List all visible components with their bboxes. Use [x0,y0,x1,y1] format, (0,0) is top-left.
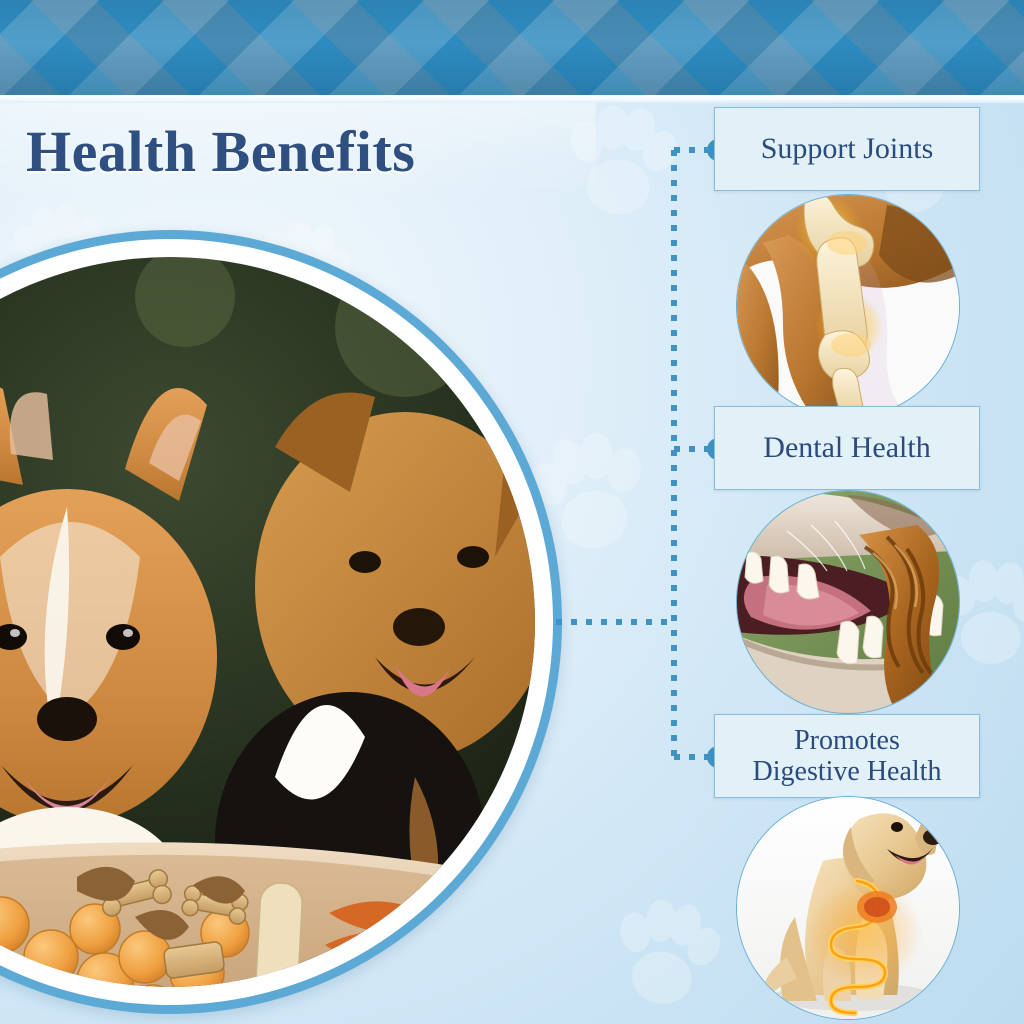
dog-chewing-braided-treat-photo [736,490,960,714]
benefit-label-line-2: Digestive Health [753,756,942,787]
benefit-label-text: Dental Health [763,431,930,465]
benefit-label-line-1: Promotes [794,725,900,756]
golden-retriever-digestive-system-photo [736,796,960,1020]
benefit-label-text: Support Joints [761,132,934,166]
dog-leg-joint-xray-photo [736,194,960,418]
infographic-canvas: Health Benefits [0,0,1024,1024]
benefit-label-promotes-digestive-health[interactable]: Promotes Digestive Health [714,714,980,798]
benefit-label-support-joints[interactable]: Support Joints [714,107,980,191]
benefit-label-text: Promotes Digestive Health [753,725,942,788]
benefit-label-dental-health[interactable]: Dental Health [714,406,980,490]
